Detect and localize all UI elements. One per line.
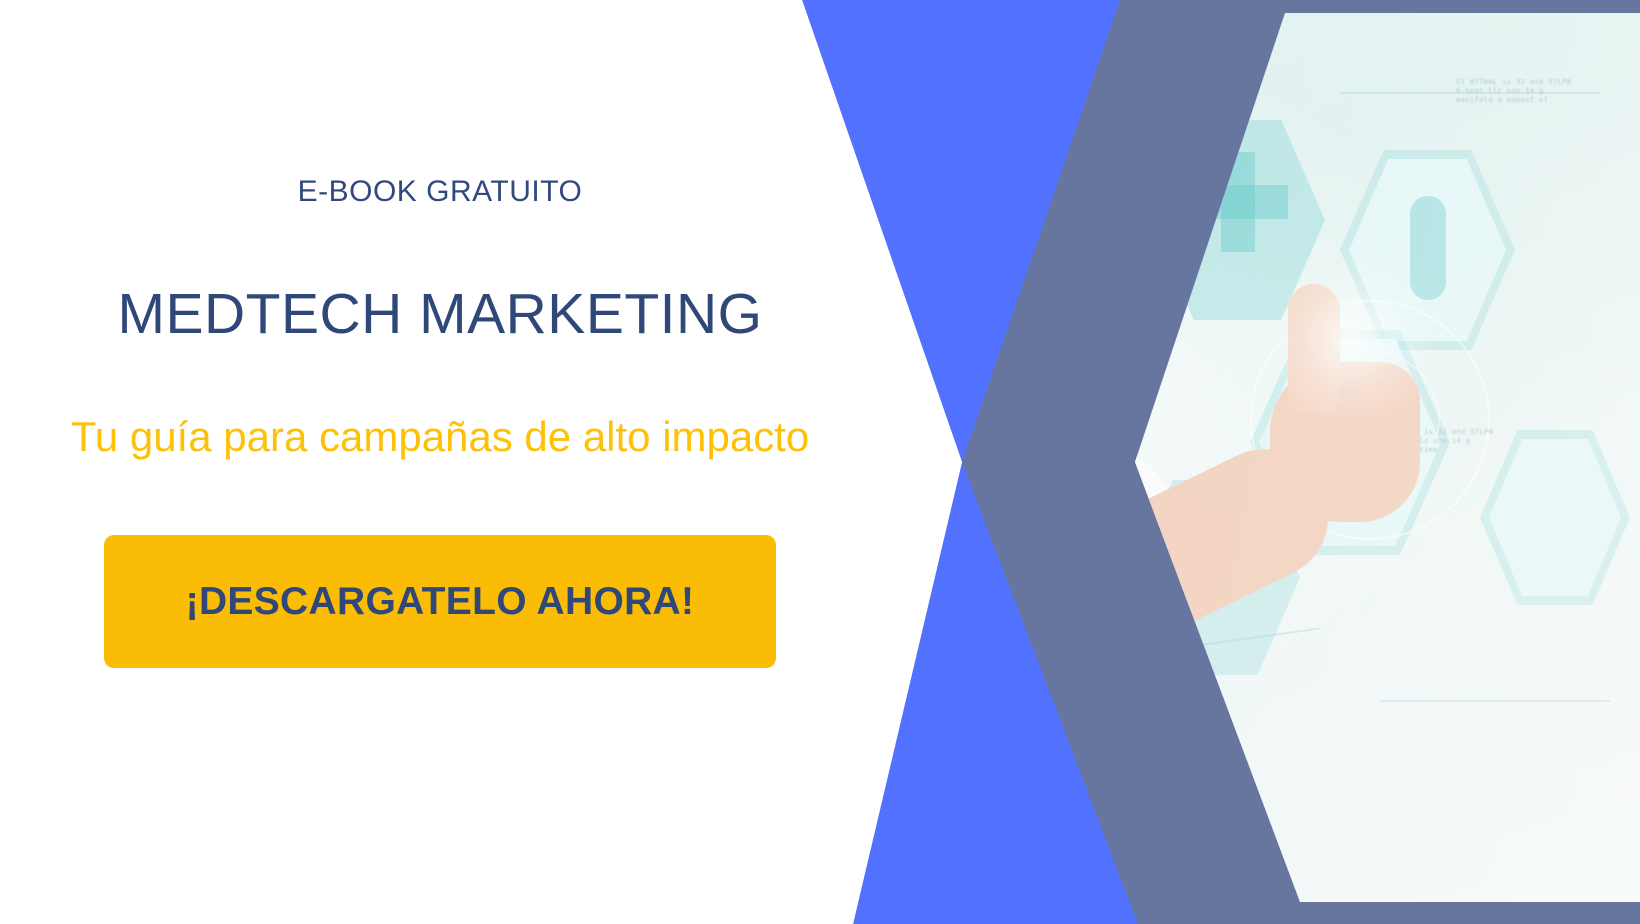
hud-text-line: R-heat llc one 14 g <box>1456 87 1571 96</box>
subtitle-text: Tu guía para campañas de alto impacto <box>0 413 920 461</box>
content-column: E-BOOK GRATUITO MEDTECH MARKETING Tu guí… <box>0 0 920 924</box>
hud-line-decoration <box>1380 700 1610 702</box>
hud-text-line: ST WYTHAL is 32 and 97LPN <box>1456 78 1571 87</box>
ebook-promo-banner: ST WYTHAL is 32 and 97LPN R-heat llc one… <box>0 0 1640 924</box>
page-title: MEDTECH MARKETING <box>0 281 920 347</box>
touch-glow-effect <box>1268 254 1438 424</box>
eyebrow-label: E-BOOK GRATUITO <box>0 175 920 209</box>
download-now-button[interactable]: ¡DESCARGATELO AHORA! <box>104 535 776 668</box>
hud-text-block: ST WYTHAL is 32 and 97LPN R-heat llc one… <box>1456 78 1571 105</box>
cta-container: ¡DESCARGATELO AHORA! <box>0 535 920 668</box>
hexagon-outline-shape <box>1480 430 1630 605</box>
hud-text-line: manifold a moment of <box>1456 96 1571 105</box>
